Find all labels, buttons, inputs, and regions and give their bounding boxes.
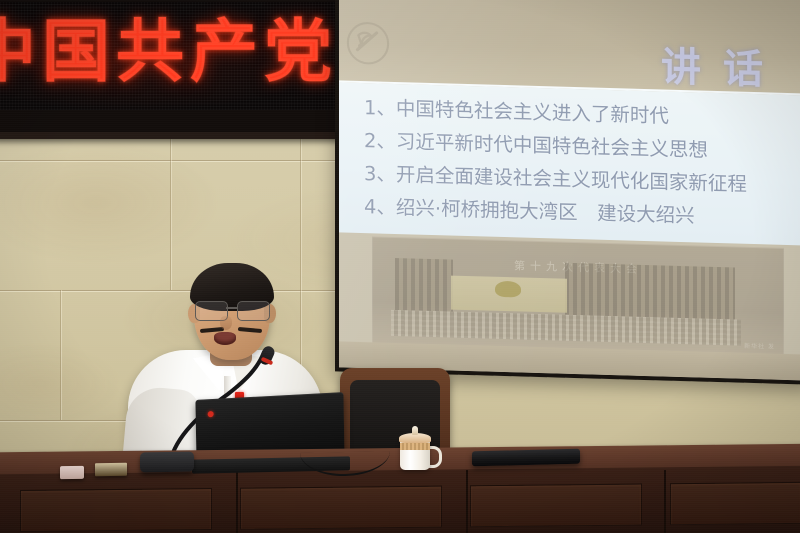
small-notebook bbox=[95, 463, 127, 477]
desk-seam bbox=[664, 470, 666, 533]
hall-emblem-icon bbox=[495, 281, 521, 298]
closed-tablet[interactable] bbox=[472, 449, 580, 467]
projection-screen: 讲话 1、中国特色社会主义进入了新时代 2、习近平新时代中国特色社会主义思想 3… bbox=[335, 0, 800, 385]
photo-scene: 中国共产党 讲话 1、中国特色社会主义进入了新时代 2、习近平新时代中国特色社会… bbox=[0, 0, 800, 533]
slide-text-block: 1、中国特色社会主义进入了新时代 2、习近平新时代中国特色社会主义思想 3、开启… bbox=[339, 80, 800, 245]
desk-panel-inset bbox=[470, 484, 642, 528]
cup-lid-knob bbox=[412, 426, 418, 435]
cup-decorative-band bbox=[400, 443, 430, 450]
microphone-base bbox=[140, 452, 194, 473]
projected-slide: 讲话 1、中国特色社会主义进入了新时代 2、习近平新时代中国特色社会主义思想 3… bbox=[339, 0, 800, 381]
cpc-emblem-icon bbox=[345, 20, 391, 67]
desk-seam bbox=[466, 470, 468, 533]
hall-drape bbox=[395, 258, 453, 312]
slide-photo-great-hall: 第十九次代表大会 新华社 发 bbox=[372, 236, 784, 358]
wall-seam bbox=[170, 128, 171, 290]
glasses-bridge bbox=[226, 307, 237, 309]
glasses-lens bbox=[237, 301, 270, 321]
slide-header-band: 讲话 bbox=[339, 0, 800, 94]
thinkpad-logo-dot-icon bbox=[208, 411, 214, 417]
slide-title-chars: 讲话 bbox=[661, 34, 785, 95]
desk-panel-inset bbox=[20, 488, 212, 532]
tea-cup bbox=[398, 424, 432, 470]
led-panel: 中国共产党 bbox=[0, 2, 346, 110]
slide-photo-watermark: 新华社 发 bbox=[744, 341, 775, 351]
hall-drape bbox=[565, 263, 735, 320]
desk-panel-inset bbox=[240, 486, 442, 530]
led-banner: 中国共产党 bbox=[0, 0, 346, 139]
cup-handle bbox=[428, 446, 442, 468]
led-banner-text: 中国共产党 bbox=[0, 16, 338, 90]
slide-lines: 1、中国特色社会主义进入了新时代 2、习近平新时代中国特色社会主义思想 3、开启… bbox=[364, 91, 800, 235]
small-white-item bbox=[60, 466, 84, 479]
desk-panel-inset bbox=[670, 482, 800, 525]
nose bbox=[220, 316, 232, 330]
eyeglasses-icon bbox=[192, 301, 272, 320]
desk-seam bbox=[236, 470, 238, 533]
mouth-speaking bbox=[214, 332, 236, 345]
wall-seam bbox=[60, 290, 61, 420]
